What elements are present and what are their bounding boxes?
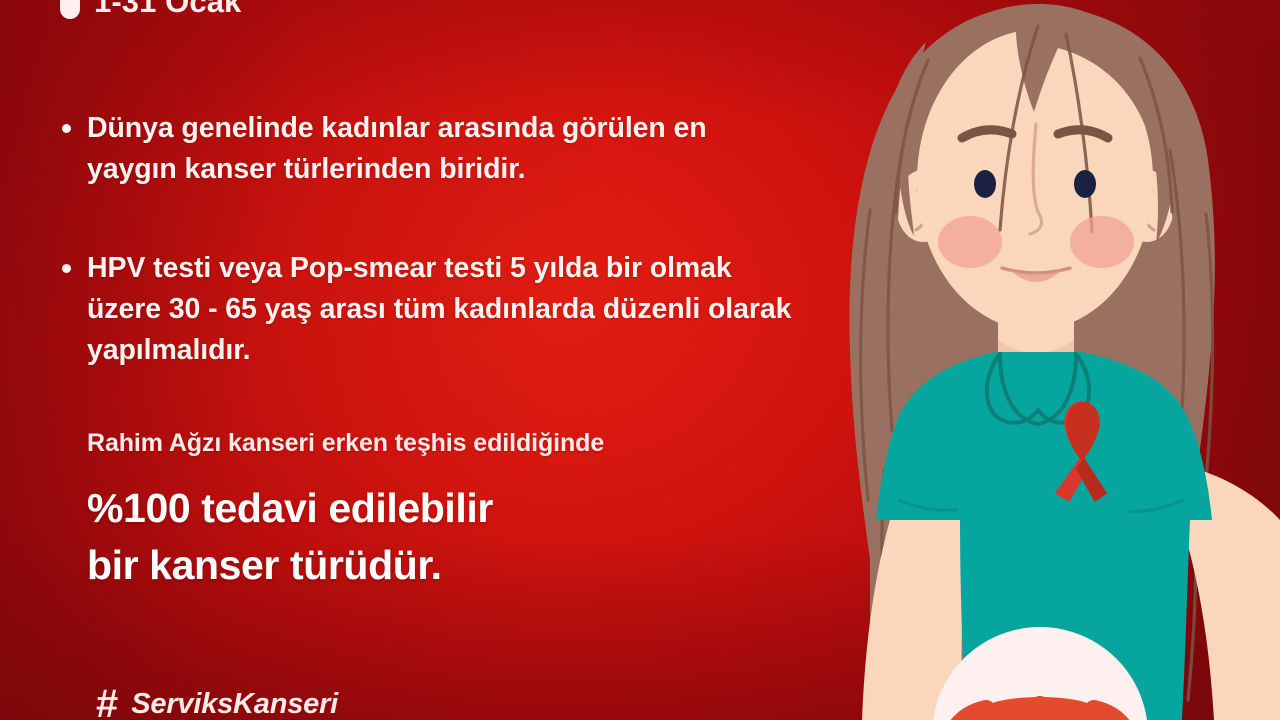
hash-icon: # bbox=[96, 684, 118, 720]
closing-line-1: %100 tedavi edilebilir bbox=[87, 480, 802, 537]
closing-line-2: bir kanser türüdür. bbox=[87, 537, 802, 594]
bullet-dot-icon bbox=[62, 124, 71, 133]
date-range-title: 1-31 Ocak bbox=[94, 0, 241, 20]
awareness-poster: 1-31 Ocak Dünya genelinde kadınlar arası… bbox=[0, 0, 1280, 720]
footer-hashtag: # ServiksKanseri bbox=[96, 684, 338, 720]
hashtag-label: ServiksKanseri bbox=[131, 690, 338, 719]
closing-block: Rahim Ağzı kanseri erken teşhis edildiği… bbox=[87, 429, 802, 593]
bullet-dot-icon bbox=[62, 264, 71, 273]
text-column: Dünya genelinde kadınlar arasında görüle… bbox=[62, 108, 802, 593]
rounded-bar-icon bbox=[60, 0, 80, 19]
header: 1-31 Ocak bbox=[60, 0, 241, 20]
woman-illustration-svg bbox=[810, 0, 1280, 720]
bullet-text: HPV testi veya Pop-smear testi 5 yılda b… bbox=[87, 248, 802, 371]
closing-emphasis: %100 tedavi edilebilir bir kanser türüdü… bbox=[87, 480, 802, 593]
bullet-text: Dünya genelinde kadınlar arasında görüle… bbox=[87, 108, 802, 190]
woman-illustration bbox=[810, 0, 1280, 720]
list-item: HPV testi veya Pop-smear testi 5 yılda b… bbox=[62, 248, 802, 371]
list-item: Dünya genelinde kadınlar arasında görüle… bbox=[62, 108, 802, 190]
closing-lead-text: Rahim Ağzı kanseri erken teşhis edildiği… bbox=[87, 429, 802, 458]
